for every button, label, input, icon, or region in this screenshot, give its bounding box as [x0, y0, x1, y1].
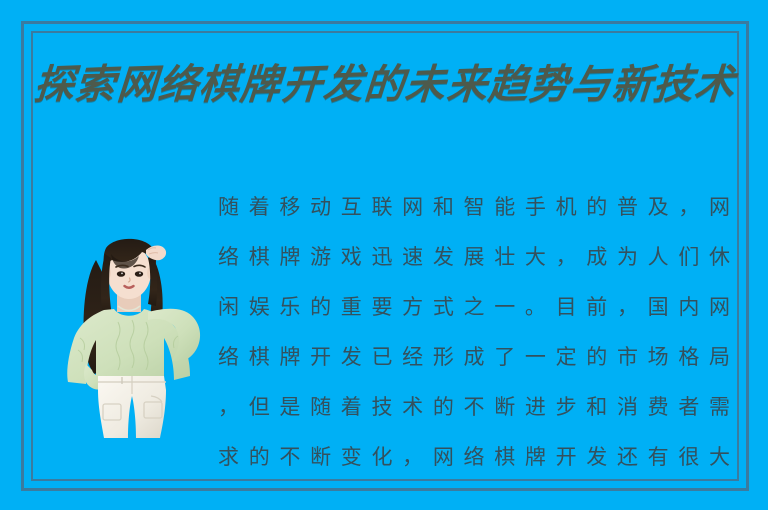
body-char: 发: [586, 432, 607, 482]
body-char: 乐: [279, 282, 300, 332]
body-char: 场: [648, 332, 669, 382]
body-paragraph: 随着移动互联网和智能手机的普及，网络棋牌游戏迅速发展壮大，成为人们休闲娱乐的重要…: [218, 182, 730, 482]
title-char: 开: [280, 64, 323, 105]
body-char: 格: [678, 332, 699, 382]
body-line: ，但是随着技术的不断进步和消费者需: [218, 382, 730, 432]
body-char: 之: [464, 282, 485, 332]
body-char: 但: [249, 382, 270, 432]
body-char: 迅: [371, 232, 392, 282]
body-line: 随着移动互联网和智能手机的普及，网: [218, 182, 730, 232]
body-char: 网: [433, 432, 454, 482]
title-char: 网: [115, 64, 158, 105]
title-char: 探: [33, 64, 76, 105]
title-char: 技: [651, 64, 694, 105]
body-char: 智: [464, 182, 485, 232]
title-char: 牌: [239, 64, 282, 105]
body-char: 方: [402, 282, 423, 332]
body-char: 发: [433, 232, 454, 282]
body-char: 要: [371, 282, 392, 332]
body-char: 随: [310, 382, 331, 432]
body-char: 络: [218, 232, 239, 282]
body-char: 局: [709, 332, 730, 382]
body-char: 戏: [341, 232, 362, 282]
body-char: 牌: [279, 332, 300, 382]
body-char: 网: [709, 282, 730, 332]
body-char: 及: [648, 182, 669, 232]
body-char: 互: [341, 182, 362, 232]
body-char: 成: [464, 332, 485, 382]
page-title: 探索网络棋牌开发的未来趋势与新技术: [34, 52, 734, 118]
body-char: 一: [525, 332, 546, 382]
body-char: 重: [341, 282, 362, 332]
body-char: 已: [371, 332, 392, 382]
body-char: 展: [464, 232, 485, 282]
body-char: 断: [494, 382, 515, 432]
body-char: 很: [678, 432, 699, 482]
body-char: 大: [709, 432, 730, 482]
title-char: 来: [445, 64, 488, 105]
body-char: ，: [402, 432, 423, 482]
body-char: 国: [648, 282, 669, 332]
body-char: 壮: [494, 232, 515, 282]
body-char: 联: [371, 182, 392, 232]
body-char: 目: [556, 282, 577, 332]
body-line: 络棋牌开发已经形成了一定的市场格局: [218, 332, 730, 382]
body-char: 断: [310, 432, 331, 482]
body-char: 变: [341, 432, 362, 482]
body-char: 人: [648, 232, 669, 282]
body-char: 式: [433, 282, 454, 332]
body-char: 费: [648, 382, 669, 432]
body-char: 不: [464, 382, 485, 432]
body-char: 和: [433, 182, 454, 232]
body-char: 牌: [279, 232, 300, 282]
body-char: 开: [556, 432, 577, 482]
title-char: 术: [693, 64, 736, 105]
body-char: 求: [218, 432, 239, 482]
body-char: 还: [617, 432, 638, 482]
title-char: 趋: [486, 64, 529, 105]
body-char: 为: [617, 232, 638, 282]
body-char: 步: [556, 382, 577, 432]
body-char: 随: [218, 182, 239, 232]
body-char: 需: [709, 382, 730, 432]
body-char: 棋: [249, 232, 270, 282]
body-char: 络: [218, 332, 239, 382]
body-char: 的: [433, 382, 454, 432]
title-char: 势: [528, 64, 571, 105]
model-photo: [56, 214, 206, 438]
body-char: 定: [556, 332, 577, 382]
body-char: 的: [586, 332, 607, 382]
body-char: 牌: [525, 432, 546, 482]
body-char: 进: [525, 382, 546, 432]
body-char: 手: [525, 182, 546, 232]
title-char: 与: [569, 64, 612, 105]
body-line: 求的不断变化，网络棋牌开发还有很大: [218, 432, 730, 482]
body-char: ，: [218, 382, 239, 432]
body-char: ，: [556, 232, 577, 282]
body-char: 不: [279, 432, 300, 482]
body-char: 们: [678, 232, 699, 282]
body-char: 发: [341, 332, 362, 382]
body-char: 的: [249, 432, 270, 482]
body-char: 棋: [249, 332, 270, 382]
body-char: 速: [402, 232, 423, 282]
body-char: 市: [617, 332, 638, 382]
body-char: 大: [525, 232, 546, 282]
body-char: 前: [586, 282, 607, 332]
body-char: 网: [402, 182, 423, 232]
body-char: 络: [464, 432, 485, 482]
body-char: 着: [341, 382, 362, 432]
title-char: 络: [156, 64, 199, 105]
title-char: 发: [321, 64, 364, 105]
body-char: 游: [310, 232, 331, 282]
body-char: 。: [525, 282, 546, 332]
body-char: 内: [678, 282, 699, 332]
body-char: ，: [617, 282, 638, 332]
title-char: 新: [610, 64, 653, 105]
body-char: 能: [494, 182, 515, 232]
body-char: 的: [586, 182, 607, 232]
body-char: 网: [709, 182, 730, 232]
poster-canvas: 探索网络棋牌开发的未来趋势与新技术: [0, 0, 768, 510]
body-char: 形: [433, 332, 454, 382]
body-char: 是: [279, 382, 300, 432]
title-char: 未: [404, 64, 447, 105]
body-char: 娱: [249, 282, 270, 332]
body-char: 有: [648, 432, 669, 482]
body-char: 者: [678, 382, 699, 432]
body-char: 移: [279, 182, 300, 232]
body-char: 术: [402, 382, 423, 432]
title-char: 的: [363, 64, 406, 105]
body-char: 消: [617, 382, 638, 432]
body-line: 络棋牌游戏迅速发展壮大，成为人们休: [218, 232, 730, 282]
body-char: 成: [586, 232, 607, 282]
title-char: 棋: [198, 64, 241, 105]
body-char: ，: [678, 182, 699, 232]
body-char: 休: [709, 232, 730, 282]
body-char: 化: [371, 432, 392, 482]
body-char: 了: [494, 332, 515, 382]
body-char: 闲: [218, 282, 239, 332]
body-char: 的: [310, 282, 331, 332]
title-char: 索: [74, 64, 117, 105]
body-char: 和: [586, 382, 607, 432]
body-char: 开: [310, 332, 331, 382]
body-char: 着: [249, 182, 270, 232]
body-line: 闲娱乐的重要方式之一。目前，国内网: [218, 282, 730, 332]
body-char: 经: [402, 332, 423, 382]
body-char: 动: [310, 182, 331, 232]
body-char: 棋: [494, 432, 515, 482]
body-char: 机: [556, 182, 577, 232]
body-char: 技: [371, 382, 392, 432]
body-char: 一: [494, 282, 515, 332]
body-char: 普: [617, 182, 638, 232]
